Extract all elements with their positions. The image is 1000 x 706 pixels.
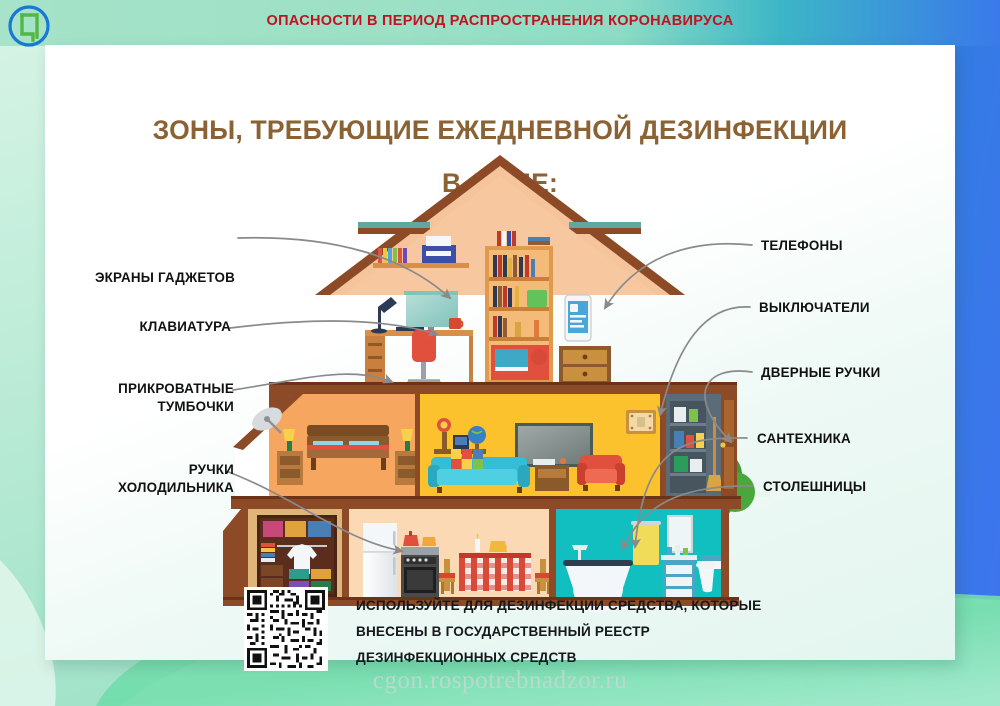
callout-label-door-handles: ДВЕРНЫЕ РУЧКИ bbox=[761, 364, 880, 382]
callout-label-countertops: СТОЛЕШНИЦЫ bbox=[763, 478, 866, 496]
callout-label-screens: ЭКРАНЫ ГАДЖЕТОВ bbox=[45, 269, 235, 287]
header-title: ОПАСНОСТИ В ПЕРИОД РАСПРОСТРАНЕНИЯ КОРОН… bbox=[0, 13, 1000, 29]
note-line-2: ВНЕСЕНЫ В ГОСУДАРСТВЕННЫЙ РЕЕСТР bbox=[356, 619, 876, 645]
callout-arrows-layer bbox=[45, 45, 955, 660]
callout-label-bedside-tables: ПРИКРОВАТНЫЕ ТУМБОЧКИ bbox=[45, 380, 234, 416]
callout-label-keyboard: КЛАВИАТУРА bbox=[45, 318, 231, 336]
footer-url: cgon.rospotrebnadzor.ru bbox=[0, 667, 1000, 695]
callout-label-phones: ТЕЛЕФОНЫ bbox=[761, 237, 843, 255]
poster-root: ОПАСНОСТИ В ПЕРИОД РАСПРОСТРАНЕНИЯ КОРОН… bbox=[0, 0, 1000, 706]
callout-label-fridge-handles: РУЧКИ ХОЛОДИЛЬНИКА bbox=[45, 461, 234, 497]
poster-card: ЗОНЫ, ТРЕБУЮЩИЕ ЕЖЕДНЕВНОЙ ДЕЗИНФЕКЦИИ В… bbox=[45, 45, 955, 660]
callout-label-switches: ВЫКЛЮЧАТЕЛИ bbox=[759, 299, 870, 317]
callout-label-plumbing: САНТЕХНИКА bbox=[757, 430, 851, 448]
note-line-1: ИСПОЛЬЗУЙТЕ ДЛЯ ДЕЗИНФЕКЦИИ СРЕДСТВА, КО… bbox=[356, 593, 876, 619]
qr-code-matrix bbox=[244, 587, 328, 671]
disinfectant-note: ИСПОЛЬЗУЙТЕ ДЛЯ ДЕЗИНФЕКЦИИ СРЕДСТВА, КО… bbox=[356, 593, 876, 671]
qr-code-icon[interactable] bbox=[244, 587, 328, 671]
